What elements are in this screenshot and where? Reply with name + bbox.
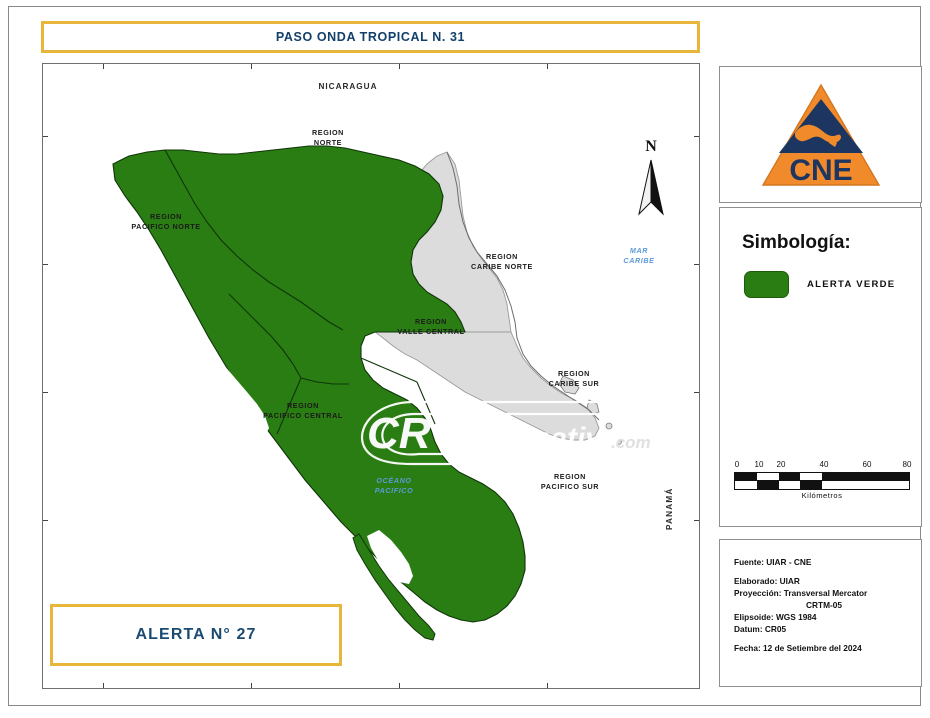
label-mar-caribe: MAR CARIBE — [599, 246, 679, 265]
frame-tick-right — [694, 520, 699, 521]
alert-number-label: ALERTA N° 27 — [136, 626, 257, 644]
map-inner: NICARAGUA PANAMÁ REGION NORTE REGION PAC… — [43, 64, 699, 688]
label-region-caribe-sur: REGION CARIBE SUR — [524, 369, 624, 388]
frame-tick-top — [103, 64, 104, 69]
frame-tick-bottom — [547, 683, 548, 688]
frame-tick-right — [694, 264, 699, 265]
frame-tick-left — [43, 392, 48, 393]
label-region-pacifico-central: REGION PACIFICO CENTRAL — [243, 401, 363, 420]
legend-panel: Simbología: ALERTA VERDE 0 10 20 40 60 8… — [719, 207, 922, 527]
scale-bar-unit: Kilómetros — [734, 491, 910, 500]
scale-bar-top-row — [734, 472, 910, 481]
map-page: PASO ONDA TROPICAL N. 31 — [0, 0, 930, 718]
label-region-pacifico-norte: REGION PACIFICO NORTE — [111, 212, 221, 231]
frame-tick-bottom — [399, 683, 400, 688]
label-region-valle-central: REGION VALLE CENTRAL — [376, 317, 486, 336]
legend-swatch-green — [744, 271, 789, 298]
scale-bar-bottom-row — [734, 481, 910, 490]
frame-tick-right — [694, 392, 699, 393]
scale-tick-60: 60 — [863, 460, 872, 469]
scale-tick-10: 10 — [755, 460, 764, 469]
page-title: PASO ONDA TROPICAL N. 31 — [276, 30, 465, 44]
outer-frame: PASO ONDA TROPICAL N. 31 — [8, 6, 921, 706]
label-nicaragua: NICARAGUA — [298, 82, 398, 93]
legend-label-alerta-verde: ALERTA VERDE — [807, 279, 895, 290]
source-proyeccion-cont: CRTM-05 — [734, 599, 914, 611]
title-banner: PASO ONDA TROPICAL N. 31 — [41, 21, 700, 53]
map-canvas[interactable]: NICARAGUA PANAMÁ REGION NORTE REGION PAC… — [42, 63, 700, 689]
north-arrow-glyph — [631, 158, 671, 216]
logo-panel: CNE — [719, 66, 922, 203]
scale-bar-ticks: 0 10 20 40 60 80 — [734, 460, 910, 472]
source-panel: Fuente: UIAR - CNE Elaborado: UIAR Proye… — [719, 539, 922, 687]
source-elaborado: Elaborado: UIAR — [734, 575, 914, 587]
source-fecha: Fecha: 12 de Setiembre del 2024 — [734, 642, 914, 654]
scale-tick-40: 40 — [820, 460, 829, 469]
frame-tick-top — [251, 64, 252, 69]
scale-tick-20: 20 — [777, 460, 786, 469]
north-arrow: N — [631, 138, 671, 216]
cne-logo-text: CNE — [789, 154, 852, 187]
scale-tick-0: 0 — [735, 460, 739, 469]
frame-tick-left — [43, 136, 48, 137]
frame-tick-left — [43, 264, 48, 265]
cne-logo: CNE — [759, 81, 883, 189]
scale-tick-80: 80 — [903, 460, 912, 469]
frame-tick-bottom — [103, 683, 104, 688]
scale-bar: 0 10 20 40 60 80 — [734, 460, 910, 500]
label-region-caribe-norte: REGION CARIBE NORTE — [447, 252, 557, 271]
legend-item-alerta-verde: ALERTA VERDE — [744, 271, 895, 298]
frame-tick-top — [547, 64, 548, 69]
frame-tick-top — [399, 64, 400, 69]
frame-tick-bottom — [251, 683, 252, 688]
alert-number-box: ALERTA N° 27 — [50, 604, 342, 666]
label-region-pacifico-sur: REGION PACIFICO SUR — [515, 472, 625, 491]
label-region-norte: REGION NORTE — [283, 128, 373, 147]
source-elipsoide: Elipsoide: WGS 1984 — [734, 611, 914, 623]
frame-tick-left — [43, 520, 48, 521]
legend-title: Simbología: — [742, 232, 851, 254]
frame-tick-right — [694, 136, 699, 137]
source-proyeccion: Proyección: Transversal Mercator — [734, 587, 914, 599]
label-panama: PANAMÁ — [665, 464, 676, 554]
label-oceano-pacifico: OCÉANO PACIFICO — [349, 476, 439, 495]
north-arrow-letter: N — [631, 138, 671, 156]
source-fuente: Fuente: UIAR - CNE — [734, 556, 914, 568]
source-datum: Datum: CR05 — [734, 623, 914, 635]
